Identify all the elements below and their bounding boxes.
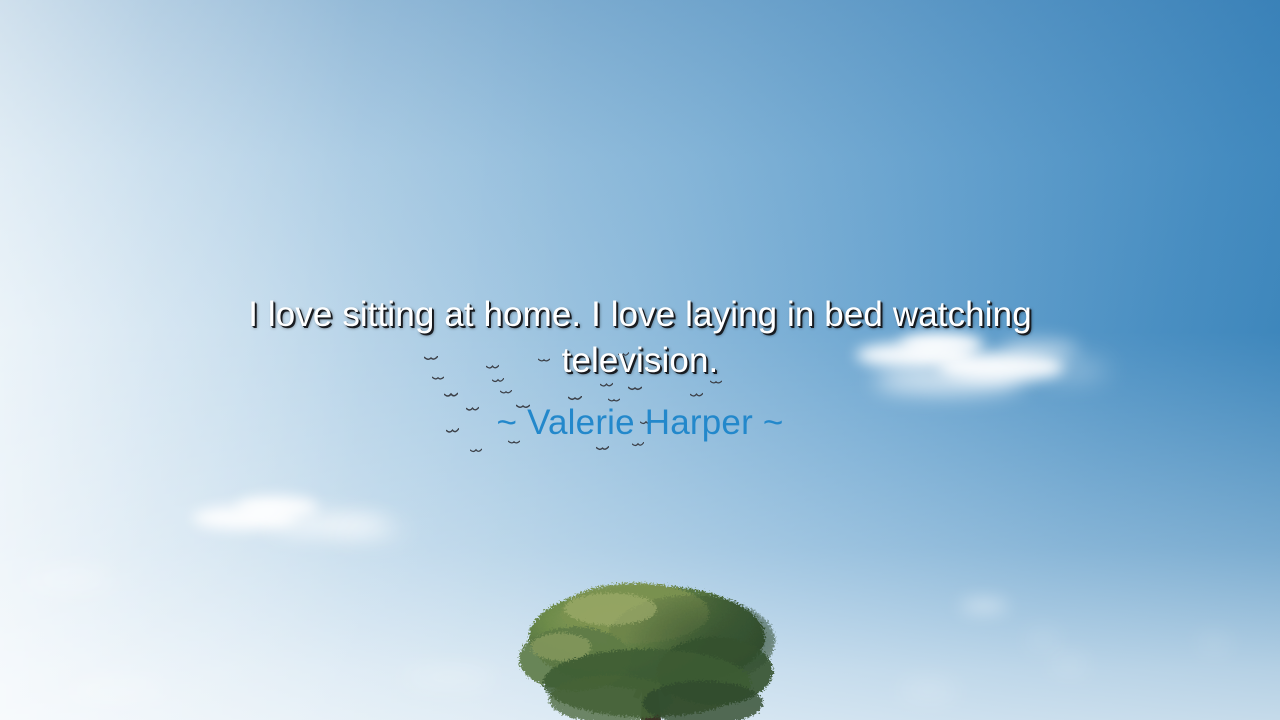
quote-text: I love sitting at home. I love laying in…: [180, 292, 1100, 384]
quote-author: ~ Valerie Harper ~: [0, 402, 1280, 444]
tree-icon: [515, 575, 785, 720]
quote-image-canvas: I love sitting at home. I love laying in…: [0, 0, 1280, 720]
quote-block: I love sitting at home. I love laying in…: [0, 292, 1280, 444]
